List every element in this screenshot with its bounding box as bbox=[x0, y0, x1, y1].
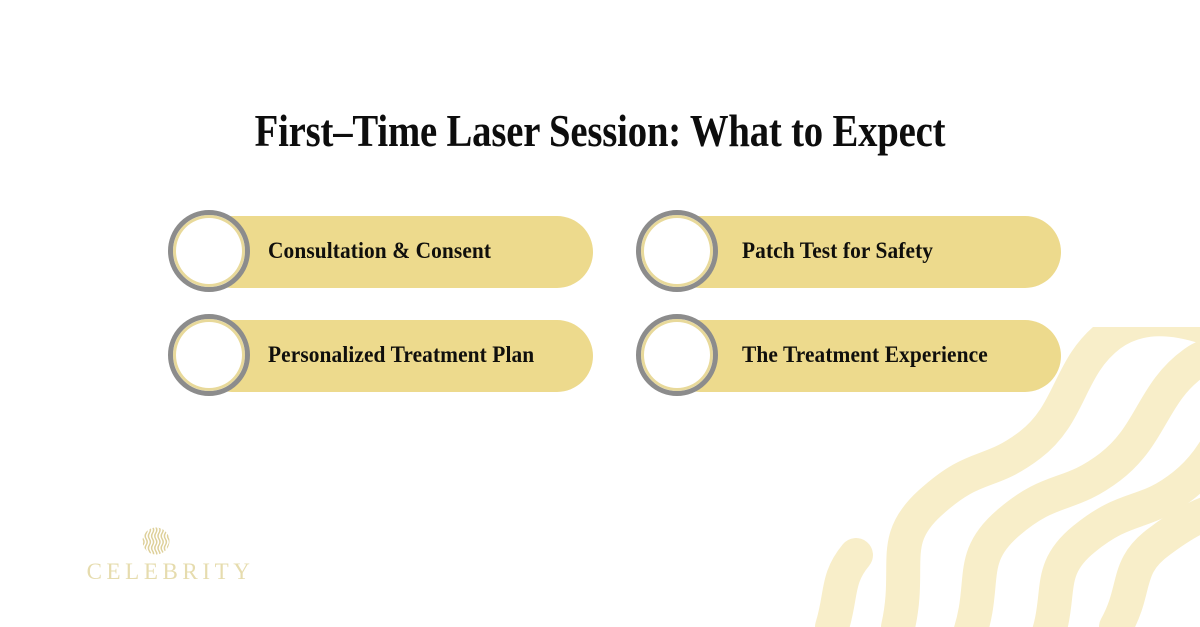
step-card-label: Consultation & Consent bbox=[268, 210, 491, 292]
step-card[interactable]: Patch Test for Safety bbox=[636, 210, 1061, 292]
empty-circle-icon bbox=[636, 210, 718, 292]
step-card-label: Patch Test for Safety bbox=[742, 210, 933, 292]
slide-canvas: First–Time Laser Session: What to Expect… bbox=[0, 0, 1200, 627]
step-card[interactable]: Consultation & Consent bbox=[168, 210, 593, 292]
step-card[interactable]: Personalized Treatment Plan bbox=[168, 314, 593, 396]
wavy-lines-circle-icon bbox=[141, 526, 171, 556]
page-title: First–Time Laser Session: What to Expect bbox=[84, 103, 1116, 159]
brand-wordmark: CELEBRITY bbox=[82, 559, 230, 585]
brand-logo: CELEBRITY bbox=[82, 526, 230, 585]
step-card-label: Personalized Treatment Plan bbox=[268, 314, 534, 396]
steps-grid: Consultation & Consent Patch Test for Sa… bbox=[168, 210, 1068, 410]
empty-circle-icon bbox=[168, 314, 250, 396]
empty-circle-icon bbox=[168, 210, 250, 292]
step-card[interactable]: The Treatment Experience bbox=[636, 314, 1061, 396]
step-card-label: The Treatment Experience bbox=[742, 314, 988, 396]
empty-circle-icon bbox=[636, 314, 718, 396]
